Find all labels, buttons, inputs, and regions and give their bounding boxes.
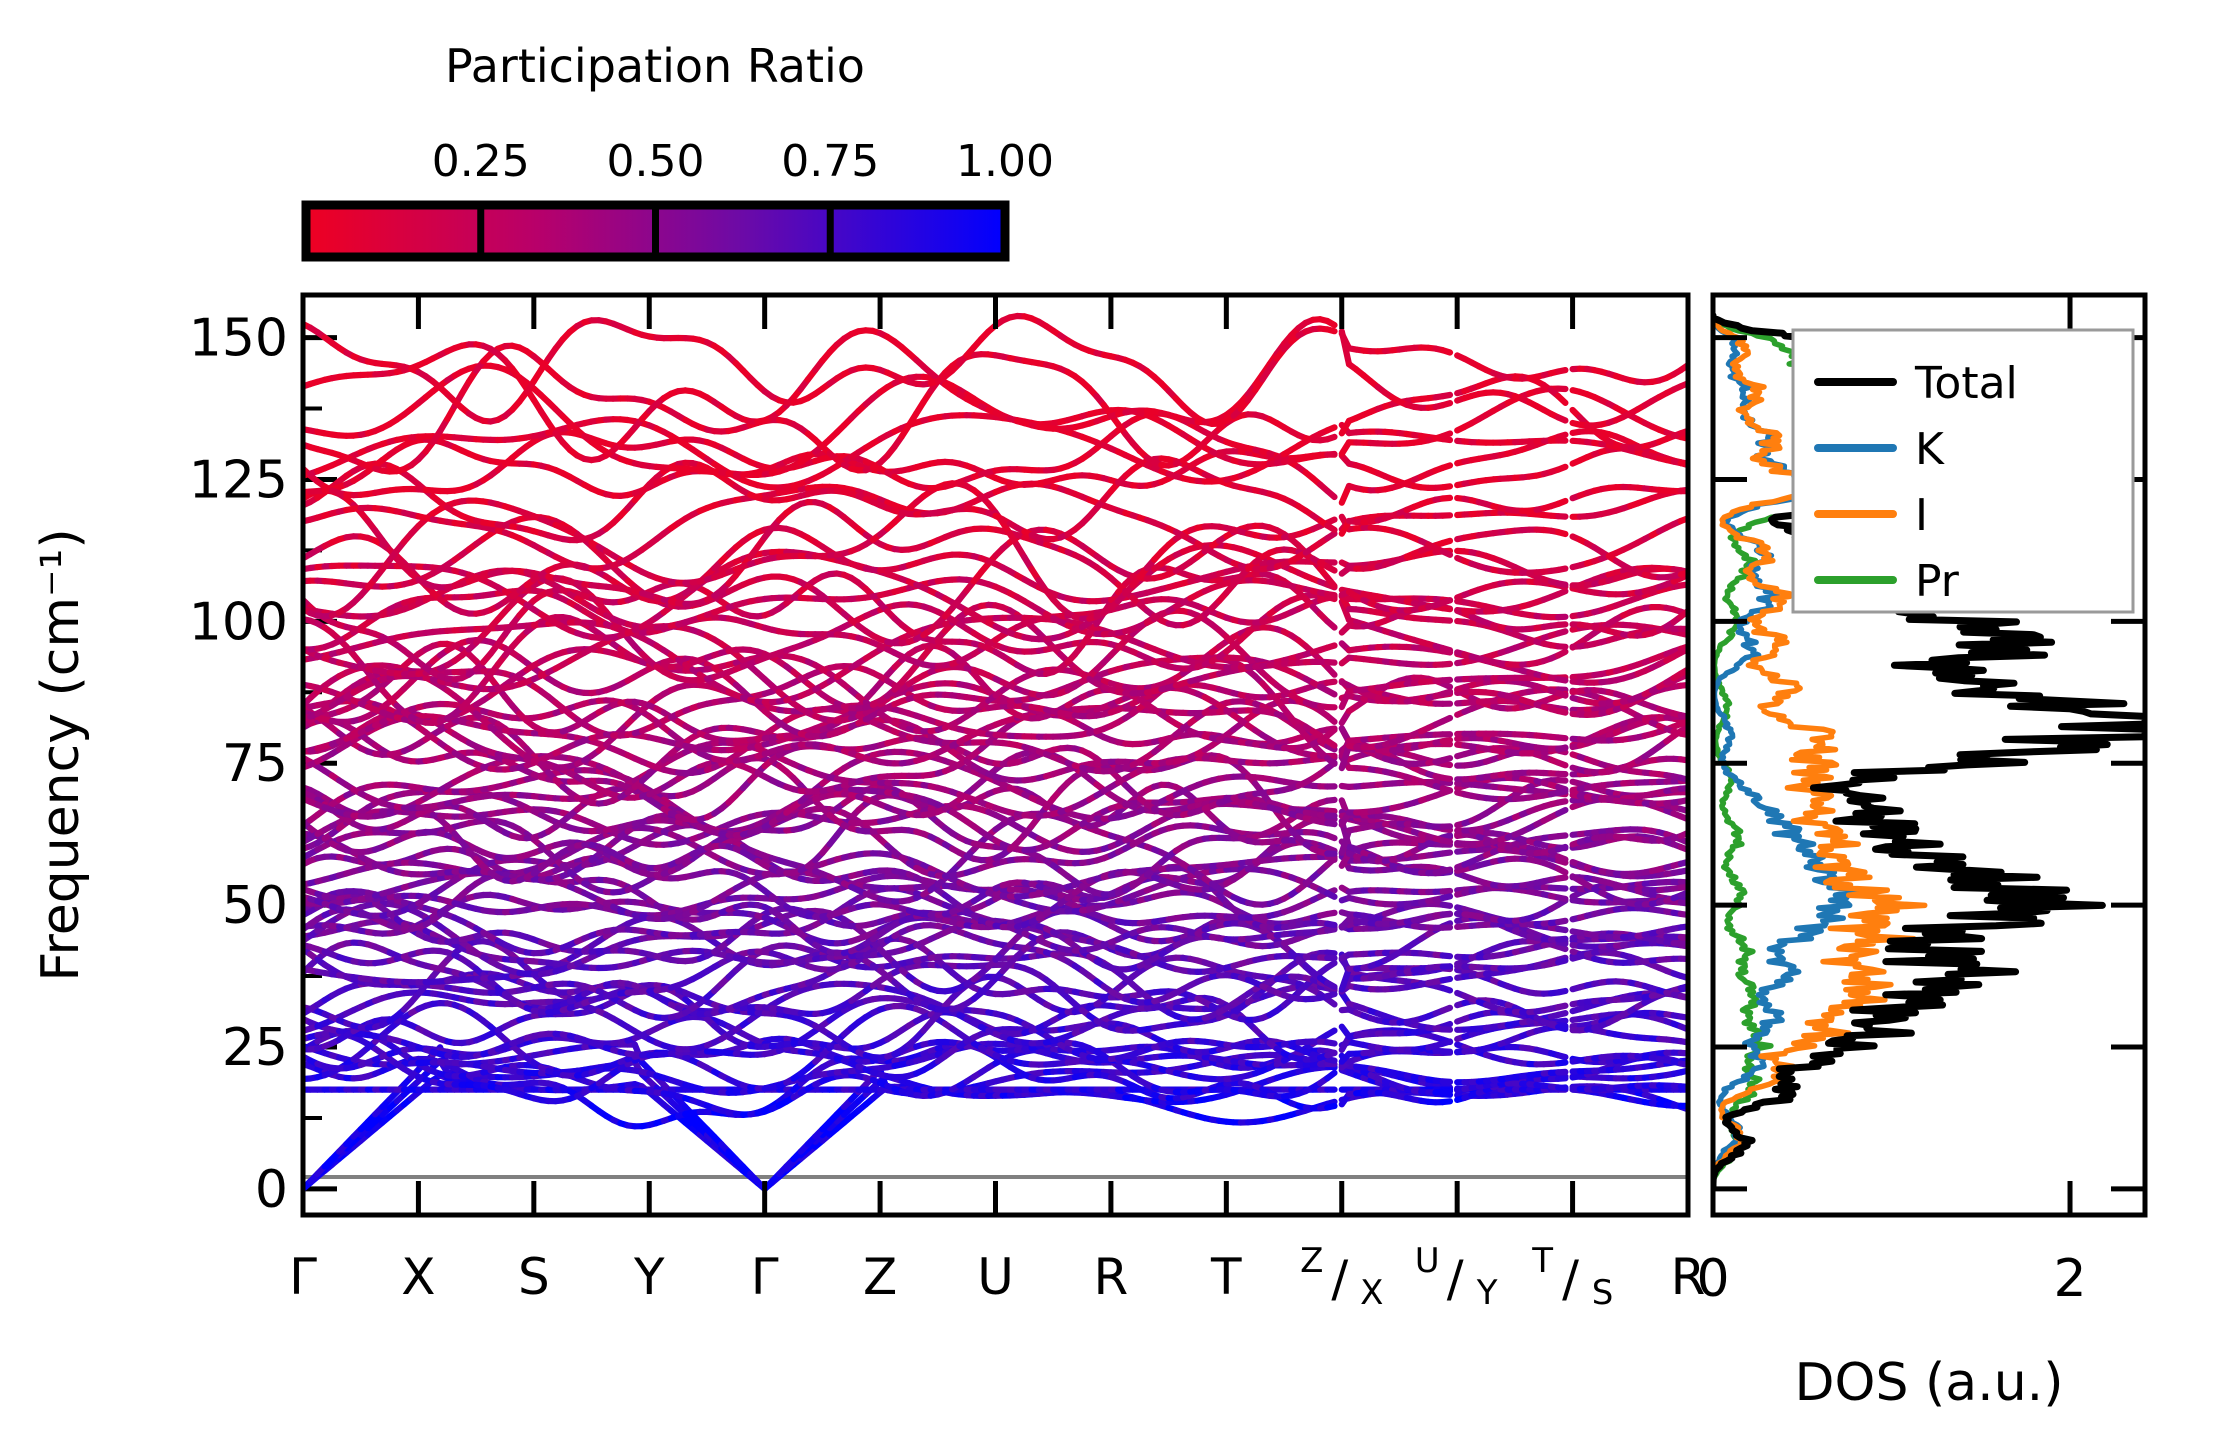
band-segment: [1443, 979, 1450, 980]
phonon-figure: Participation Ratio 0.250.500.751.00 Fre…: [0, 0, 2222, 1455]
band-segment: [1558, 1027, 1565, 1029]
band-segment: [1443, 1042, 1450, 1044]
band-segment: [1558, 947, 1565, 949]
band-segment: [1443, 905, 1450, 906]
band-y-tick-label: 50: [222, 876, 288, 936]
frequency-axis-label: Frequency (cm⁻¹): [31, 528, 91, 981]
colorbar-tick-label: 1.00: [956, 136, 1054, 187]
band-segment: [1327, 924, 1334, 925]
band-segment: [1443, 956, 1450, 957]
colorbar-tick-label: 0.50: [607, 136, 705, 187]
band-y-tick-label: 150: [189, 309, 288, 369]
band-segment: [1558, 921, 1565, 922]
band-segment: [1327, 1059, 1334, 1061]
band-segment: [1327, 983, 1334, 987]
colorbar-tick-label: 0.75: [781, 136, 879, 187]
band-segment: [1443, 891, 1450, 892]
colorbar-title: Participation Ratio: [445, 39, 865, 93]
band-segment: [1327, 953, 1334, 954]
band-segment: [1558, 1021, 1565, 1022]
band-y-tick-label: 100: [189, 592, 288, 652]
band-segment: [1558, 1013, 1565, 1015]
band-segment: [1558, 1006, 1565, 1008]
band-segment: [1558, 929, 1565, 930]
band-segment: [1443, 1101, 1450, 1102]
band-segment: [1443, 1091, 1450, 1092]
band-segment: [1443, 1081, 1450, 1082]
band-segment: [1327, 1031, 1334, 1035]
band-segment: [1558, 961, 1565, 963]
band-segment: [1558, 1063, 1565, 1064]
band-segment: [1558, 939, 1565, 940]
band-segment: [1443, 988, 1450, 990]
band-segment: [1327, 1042, 1334, 1043]
band-y-tick-label: 0: [255, 1160, 288, 1220]
band-segment: [1443, 1008, 1450, 1011]
band-segment: [1327, 913, 1334, 914]
band-segment: [1327, 999, 1334, 1004]
band-y-tick-label: 25: [222, 1018, 288, 1078]
band-segment: [1327, 1106, 1334, 1108]
band-segment: [1327, 963, 1334, 968]
band-segment: [1558, 1088, 1565, 1089]
band-segment: [1558, 898, 1565, 899]
band-segment: [1558, 1078, 1565, 1079]
band-segment: [1327, 1073, 1334, 1078]
band-segment: [1443, 914, 1450, 915]
band-segment: [1327, 994, 1334, 996]
band-segment: [1558, 1055, 1565, 1057]
band-segment: [1443, 1024, 1450, 1027]
colorbar-tick-label: 0.25: [432, 136, 530, 187]
band-segment: [1558, 991, 1565, 992]
band-segment: [1327, 929, 1334, 930]
band-segment: [1327, 1053, 1334, 1056]
band-y-tick-label: 75: [222, 734, 288, 794]
band-y-tick-label: 125: [189, 450, 288, 510]
